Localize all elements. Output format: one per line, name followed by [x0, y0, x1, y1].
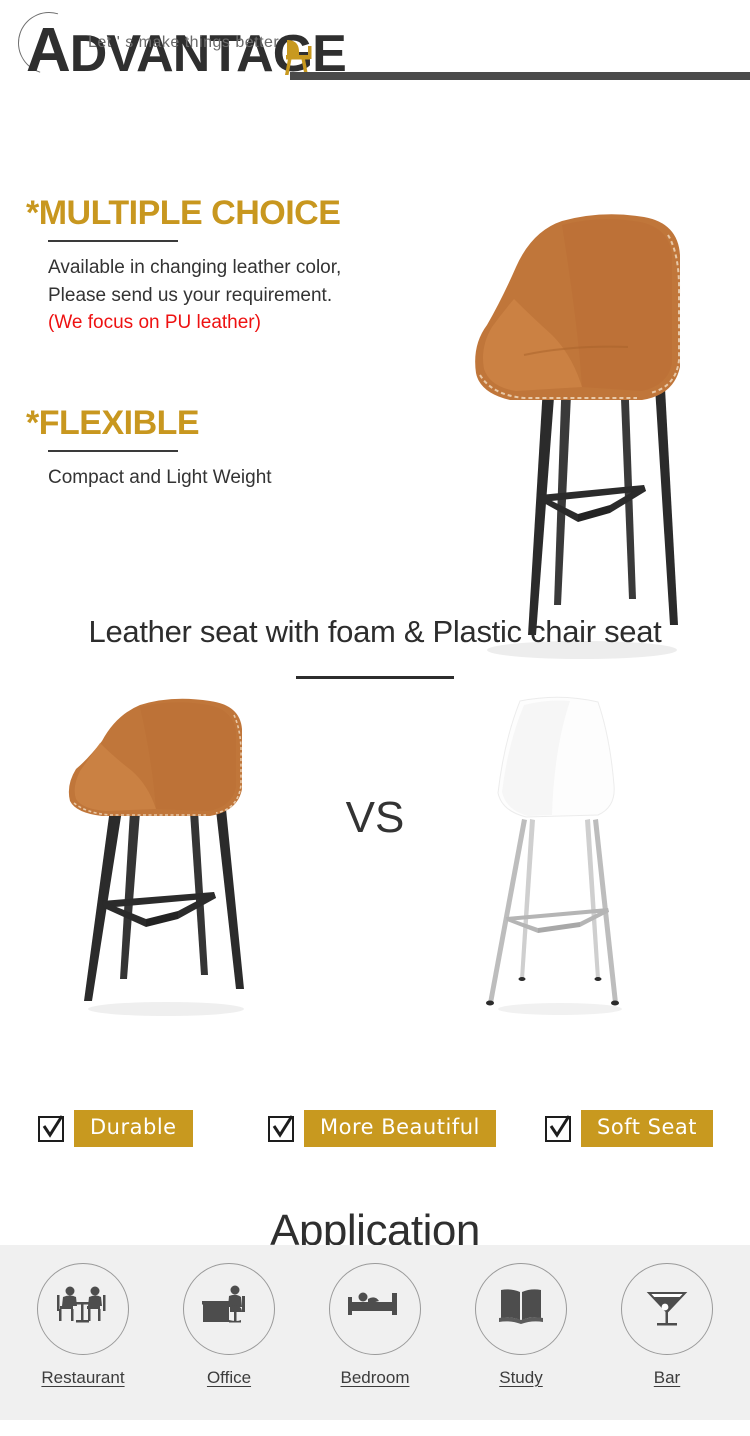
badge-soft-seat[interactable]: Soft Seat [545, 1110, 713, 1147]
features-section: *MULTIPLE CHOICE Available in changing l… [0, 100, 750, 600]
restaurant-icon [54, 1284, 112, 1335]
checkbox-checked-icon[interactable] [545, 1116, 571, 1142]
benefit-badges: Durable More Beautiful Soft Seat [0, 1110, 750, 1176]
open-book-icon [497, 1286, 545, 1333]
icon-circle [329, 1263, 421, 1355]
bed-icon [346, 1287, 404, 1332]
application-item-restaurant[interactable]: Restaurant [33, 1263, 133, 1388]
feature-title: *FLEXIBLE [26, 405, 426, 442]
icon-circle [37, 1263, 129, 1355]
checkbox-checked-icon[interactable] [268, 1116, 294, 1142]
feature-body: Available in changing leather color, Ple… [48, 254, 426, 337]
icon-circle [621, 1263, 713, 1355]
application-title: Application [0, 1176, 750, 1256]
page-header: ADVANTAGE Let ' s make things better [0, 0, 750, 100]
comparison-right-image [448, 689, 683, 1019]
feature-underline [48, 240, 178, 242]
feature-body: Compact and Light Weight [48, 464, 426, 492]
badge-label: Durable [74, 1110, 193, 1147]
checkbox-checked-icon[interactable] [38, 1116, 64, 1142]
application-item-label: Bedroom [325, 1368, 425, 1388]
application-item-label: Study [471, 1368, 571, 1388]
comparison-heading: Leather seat with foam & Plastic chair s… [0, 600, 750, 650]
application-band: Restaurant O [0, 1245, 750, 1420]
comparison-underline [296, 676, 454, 679]
brand-tagline: Let ' s make things better [88, 34, 279, 52]
application-item-bedroom[interactable]: Bedroom [325, 1263, 425, 1388]
chair-icon [283, 38, 317, 76]
icon-circle [183, 1263, 275, 1355]
feature-line-highlight: (We focus on PU leather) [48, 309, 426, 337]
badge-label: Soft Seat [581, 1110, 713, 1147]
application-item-office[interactable]: Office [179, 1263, 279, 1388]
feature-line: Compact and Light Weight [48, 464, 426, 492]
office-desk-icon [201, 1284, 257, 1335]
header-divider [290, 72, 750, 80]
cocktail-glass-icon [644, 1284, 690, 1335]
icon-circle [475, 1263, 567, 1355]
hero-product-image [432, 195, 722, 665]
application-item-study[interactable]: Study [471, 1263, 571, 1388]
comparison-row: VS [0, 689, 750, 1019]
feature-line: Available in changing leather color, [48, 254, 426, 282]
feature-multiple-choice: *MULTIPLE CHOICE Available in changing l… [26, 195, 426, 337]
comparison-section: Leather seat with foam & Plastic chair s… [0, 600, 750, 1110]
badge-more-beautiful[interactable]: More Beautiful [268, 1110, 496, 1147]
brand-initial: A [26, 16, 70, 85]
feature-flexible: *FLEXIBLE Compact and Light Weight [26, 405, 426, 492]
feature-title: *MULTIPLE CHOICE [26, 195, 426, 232]
application-item-label: Bar [617, 1368, 717, 1388]
feature-line: Please send us your requirement. [48, 282, 426, 310]
badge-durable[interactable]: Durable [38, 1110, 193, 1147]
application-item-label: Restaurant [33, 1368, 133, 1388]
application-item-label: Office [179, 1368, 279, 1388]
application-item-bar[interactable]: Bar [617, 1263, 717, 1388]
comparison-left-image [48, 689, 283, 1019]
badge-label: More Beautiful [304, 1110, 496, 1147]
application-items: Restaurant O [0, 1245, 750, 1388]
feature-underline [48, 450, 178, 452]
